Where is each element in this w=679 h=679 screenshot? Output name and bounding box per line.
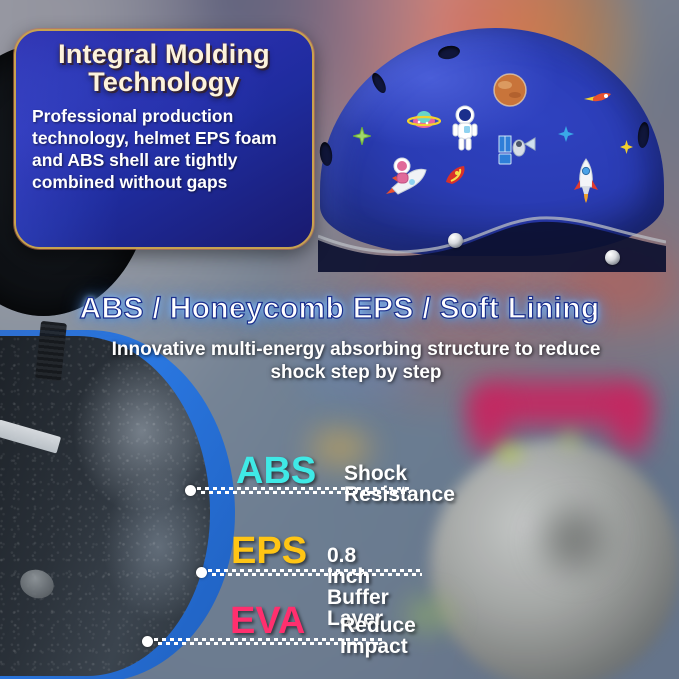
- leader-line-abs: [185, 485, 410, 495]
- integral-molding-card: Integral Molding Technology Professional…: [14, 29, 314, 249]
- layer-tag-eps: EPS: [231, 532, 307, 570]
- planet-sticker: [488, 72, 532, 110]
- red-spaceship-sticker: [442, 164, 468, 186]
- leader-dash-line: [197, 487, 410, 494]
- infographic-canvas: Integral Molding Technology Professional…: [0, 0, 679, 679]
- section-subheadline: Innovative multi-energy absorbing struct…: [106, 338, 606, 384]
- layer-tag-eva: EVA: [230, 602, 305, 640]
- satellite-sticker: [497, 130, 539, 166]
- helmet-rivet: [605, 250, 620, 265]
- star-sticker: [620, 140, 633, 154]
- leader-dash-line: [154, 638, 382, 645]
- layer-desc-abs: Shock Resistance: [344, 463, 455, 505]
- star-sticker: [353, 127, 371, 145]
- background-blur-green-a: [496, 444, 522, 462]
- leader-dash-line: [208, 569, 422, 576]
- leader-line-eps: [196, 567, 422, 577]
- helmet-shell: [312, 22, 672, 272]
- card-body-text: Professional production technology, helm…: [32, 105, 296, 193]
- section-headline: ABS / Honeycomb EPS / Soft Lining: [0, 292, 679, 326]
- leader-line-eva: [142, 636, 382, 646]
- shooting-star-sticker: [584, 90, 612, 106]
- card-title: Integral Molding Technology: [32, 41, 296, 96]
- rocket-sticker: [572, 158, 600, 204]
- background-blur-moon-crater: [520, 500, 630, 580]
- ufo-sticker: [407, 107, 441, 131]
- astronaut-sticker: [452, 104, 478, 152]
- leader-dot-icon: [142, 636, 153, 647]
- astronaut-on-rocket-sticker: [386, 154, 430, 196]
- helmet-product-photo: [312, 22, 672, 272]
- background-blur-pink-toy-right: [612, 392, 648, 454]
- background-blur-green-b: [560, 432, 580, 446]
- leader-dot-icon: [196, 567, 207, 578]
- star-sticker: [558, 126, 574, 142]
- helmet-rivet: [448, 233, 463, 248]
- leader-dot-icon: [185, 485, 196, 496]
- background-blur-yellow: [310, 430, 370, 466]
